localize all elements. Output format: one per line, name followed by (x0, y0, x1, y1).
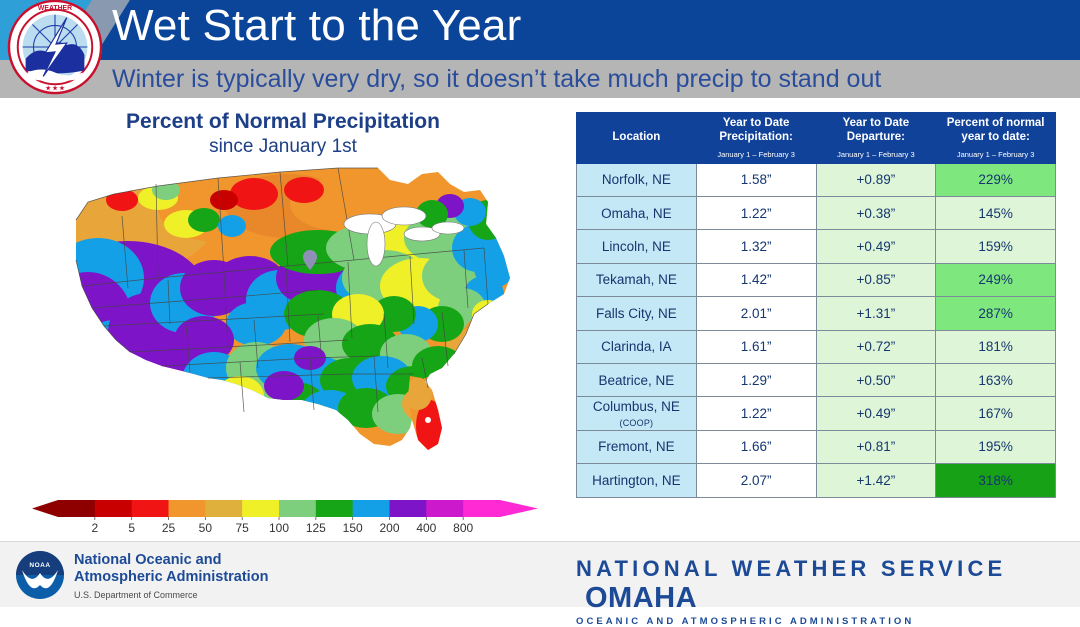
cell-precipitation: 1.22” (696, 397, 816, 430)
cell-precipitation: 1.58” (696, 163, 816, 196)
nws-omaha-wordmark: NATIONAL WEATHER SERVICEOMAHA OCEANIC AN… (576, 556, 1080, 627)
column-header-departure: Year to Date Departure: January 1 – Febr… (816, 113, 936, 164)
cell-percent-of-normal: 181% (936, 330, 1056, 363)
cell-location: Columbus, NE (COOP) (577, 397, 697, 430)
cell-departure: +1.31” (816, 297, 936, 330)
nws-office-name: OMAHA (585, 582, 697, 615)
colorbar-tick-label: 5 (128, 521, 135, 535)
map-panel: Percent of Normal Precipitation since Ja… (0, 98, 566, 541)
national-weather-service-seal-icon: WEATHER ★ ★ ★ (6, 0, 104, 96)
table-row: Falls City, NE2.01”+1.31”287% (577, 297, 1056, 330)
column-header-departure-daterange: January 1 – February 3 (819, 150, 934, 159)
colorbar-tick-label: 75 (235, 521, 249, 535)
colorbar-segment (316, 500, 353, 517)
precipitation-summary-table: Location Year to Date Precipitation: Jan… (576, 112, 1056, 524)
cell-precipitation: 1.22” (696, 196, 816, 229)
cell-precipitation: 1.61” (696, 330, 816, 363)
percent-of-normal-precipitation-map (18, 128, 548, 498)
slide-footer: NOAA National Oceanic and Atmospheric Ad… (0, 541, 1080, 607)
column-header-location: Location (577, 113, 697, 164)
colorbar-low-arrow (32, 500, 58, 517)
colorbar-tick-label: 25 (162, 521, 176, 535)
cell-percent-of-normal: 145% (936, 196, 1056, 229)
table-row: Norfolk, NE1.58”+0.89”229% (577, 163, 1056, 196)
cell-precipitation: 1.32” (696, 230, 816, 263)
colorbar-segment (353, 500, 390, 517)
cell-precipitation: 2.07” (696, 464, 816, 497)
colorbar-segment (132, 500, 169, 517)
column-header-departure-label: Year to Date Departure: (819, 117, 934, 145)
cell-departure: +0.85” (816, 263, 936, 296)
nws-footer-subtitle: OCEANIC AND ATMOSPHERIC ADMINISTRATION (576, 616, 1080, 627)
colorbar-segment (463, 500, 500, 517)
table-row: Hartington, NE2.07”+1.42”318% (577, 464, 1056, 497)
table-row: Clarinda, IA1.61”+0.72”181% (577, 330, 1056, 363)
colorbar-high-arrow (500, 500, 538, 517)
cell-departure: +0.89” (816, 163, 936, 196)
svg-text:NOAA: NOAA (29, 562, 50, 569)
colorbar-tick-label: 400 (416, 521, 436, 535)
svg-text:WEATHER: WEATHER (38, 5, 72, 12)
cell-percent-of-normal: 318% (936, 464, 1056, 497)
cell-location: Norfolk, NE (577, 163, 697, 196)
cell-percent-of-normal: 195% (936, 430, 1056, 463)
cell-percent-of-normal: 167% (936, 397, 1056, 430)
nws-footer-title: NATIONAL WEATHER SERVICE (576, 556, 1006, 582)
colorbar-segment (242, 500, 279, 517)
cell-location: Hartington, NE (577, 464, 697, 497)
cell-precipitation: 1.42” (696, 263, 816, 296)
page-title: Wet Start to the Year (112, 1, 521, 51)
table-header-row: Location Year to Date Precipitation: Jan… (577, 113, 1056, 164)
colorbar-tick-label: 50 (199, 521, 213, 535)
cell-percent-of-normal: 163% (936, 363, 1056, 396)
cell-location: Beatrice, NE (577, 363, 697, 396)
noaa-seal-icon: NOAA (14, 550, 66, 600)
cell-location: Falls City, NE (577, 297, 697, 330)
cell-departure: +0.81” (816, 430, 936, 463)
colorbar-segment (95, 500, 132, 517)
column-header-percent: Percent of normal year to date: January … (936, 113, 1056, 164)
cell-precipitation: 1.29” (696, 363, 816, 396)
cell-departure: +1.42” (816, 464, 936, 497)
cell-location: Omaha, NE (577, 196, 697, 229)
cell-location: Fremont, NE (577, 430, 697, 463)
colorbar-segment (58, 500, 95, 517)
cell-departure: +0.49” (816, 397, 936, 430)
table-row: Columbus, NE (COOP)1.22”+0.49”167% (577, 397, 1056, 430)
colorbar-segment (279, 500, 316, 517)
cell-percent-of-normal: 249% (936, 263, 1056, 296)
colorbar-tick-label: 150 (343, 521, 363, 535)
noaa-line-2: Atmospheric Administration (74, 569, 268, 586)
cell-location: Tekamah, NE (577, 263, 697, 296)
cell-percent-of-normal: 287% (936, 297, 1056, 330)
cell-departure: +0.72” (816, 330, 936, 363)
precipitation-color-scale: 25255075100125150200400800 (30, 496, 540, 540)
cell-percent-of-normal: 159% (936, 230, 1056, 263)
cell-location-coop-note: (COOP) (620, 418, 654, 428)
column-header-percent-daterange: January 1 – February 3 (938, 150, 1053, 159)
svg-text:★ ★ ★: ★ ★ ★ (45, 85, 65, 92)
colorbar-segment (205, 500, 242, 517)
noaa-line-3: U.S. Department of Commerce (74, 590, 268, 600)
column-header-percent-label: Percent of normal year to date: (938, 117, 1053, 145)
column-header-location-label: Location (579, 131, 694, 145)
colorbar-segment (390, 500, 427, 517)
noaa-line-1: National Oceanic and (74, 552, 268, 569)
cell-location: Lincoln, NE (577, 230, 697, 263)
cell-percent-of-normal: 229% (936, 163, 1056, 196)
column-header-precipitation: Year to Date Precipitation: January 1 – … (696, 113, 816, 164)
column-header-precipitation-label: Year to Date Precipitation: (699, 117, 814, 145)
table-row: Omaha, NE1.22”+0.38”145% (577, 196, 1056, 229)
colorbar-tick-label: 2 (91, 521, 98, 535)
cell-precipitation: 1.66” (696, 430, 816, 463)
colorbar-segment (426, 500, 463, 517)
table-row: Beatrice, NE1.29”+0.50”163% (577, 363, 1056, 396)
subtitle-band: Winter is typically very dry, so it does… (0, 60, 1080, 98)
colorbar-tick-label: 800 (453, 521, 473, 535)
colorbar-tick-label: 125 (306, 521, 326, 535)
cell-departure: +0.38” (816, 196, 936, 229)
column-header-precipitation-daterange: January 1 – February 3 (699, 150, 814, 159)
noaa-wordmark: National Oceanic and Atmospheric Adminis… (74, 552, 268, 600)
cell-departure: +0.49” (816, 230, 936, 263)
cell-departure: +0.50” (816, 363, 936, 396)
colorbar-tick-label: 100 (269, 521, 289, 535)
page-subtitle: Winter is typically very dry, so it does… (112, 65, 881, 94)
cell-location: Clarinda, IA (577, 330, 697, 363)
colorbar-segment (169, 500, 206, 517)
slide-header: Wet Start to the Year (0, 0, 1080, 60)
table-row: Fremont, NE1.66”+0.81”195% (577, 430, 1056, 463)
table-row: Tekamah, NE1.42”+0.85”249% (577, 263, 1056, 296)
colorbar-tick-label: 200 (379, 521, 399, 535)
cell-precipitation: 2.01” (696, 297, 816, 330)
table-row: Lincoln, NE1.32”+0.49”159% (577, 230, 1056, 263)
